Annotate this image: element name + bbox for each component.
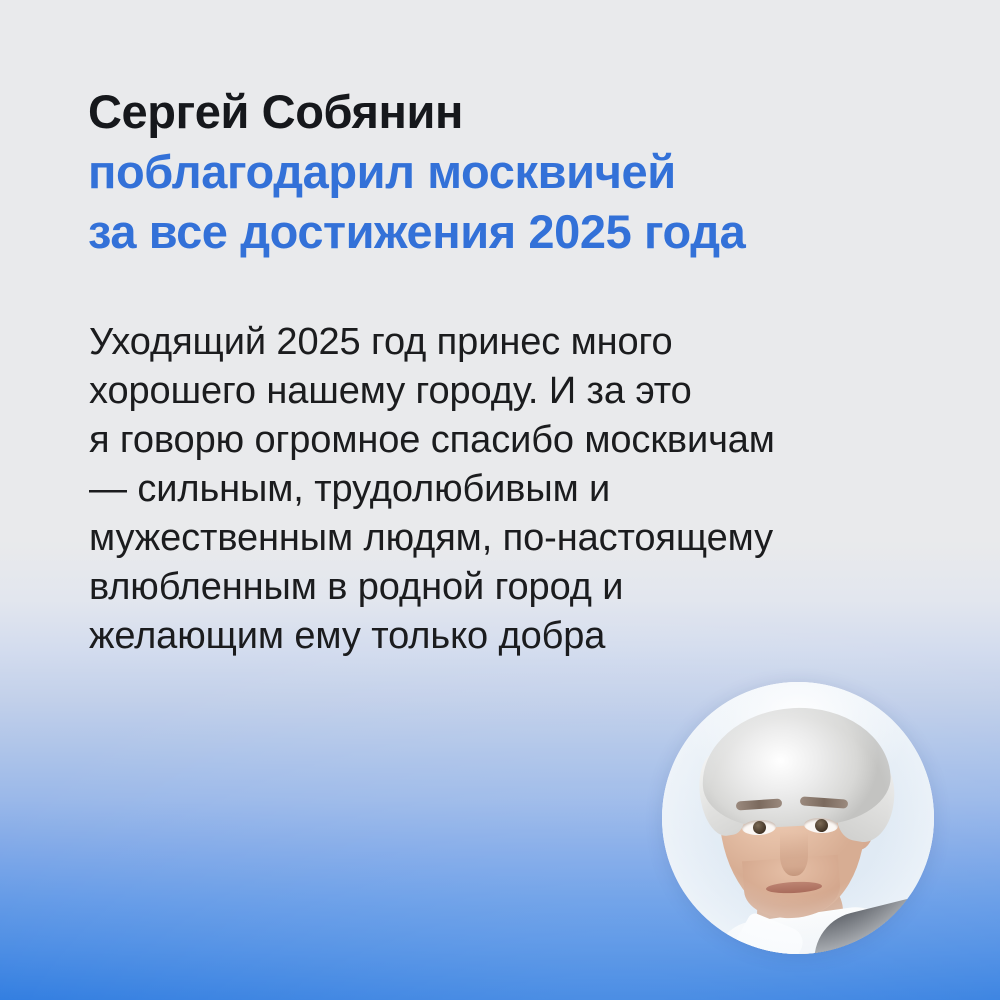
headline: Сергей Собянин поблагодарил москвичей за… [88,82,958,262]
avatar [662,682,934,954]
hair [699,703,893,831]
quote-body: Уходящий 2025 год принес много хорошего … [89,318,979,661]
iris-right [815,819,829,833]
portrait-photo [662,682,934,954]
quote-line-7: желающим ему только добра [89,612,979,661]
quote-line-2: хорошего нашему городу. И за это [89,367,979,416]
headline-line-accent-2: за все достижения 2025 года [88,202,958,262]
headline-line-name: Сергей Собянин [88,82,958,142]
quote-line-3: я говорю огромное спасибо москвичам [89,416,979,465]
social-quote-card: Сергей Собянин поблагодарил москвичей за… [0,0,1000,1000]
quote-line-1: Уходящий 2025 год принес много [89,318,979,367]
quote-line-4: — сильным, трудолюбивым и [89,465,979,514]
iris-left [753,821,767,835]
quote-line-5: мужественным людям, по-настоящему [89,514,979,563]
headline-line-accent-1: поблагодарил москвичей [88,142,958,202]
quote-line-6: влюбленным в родной город и [89,563,979,612]
nose [780,832,808,876]
